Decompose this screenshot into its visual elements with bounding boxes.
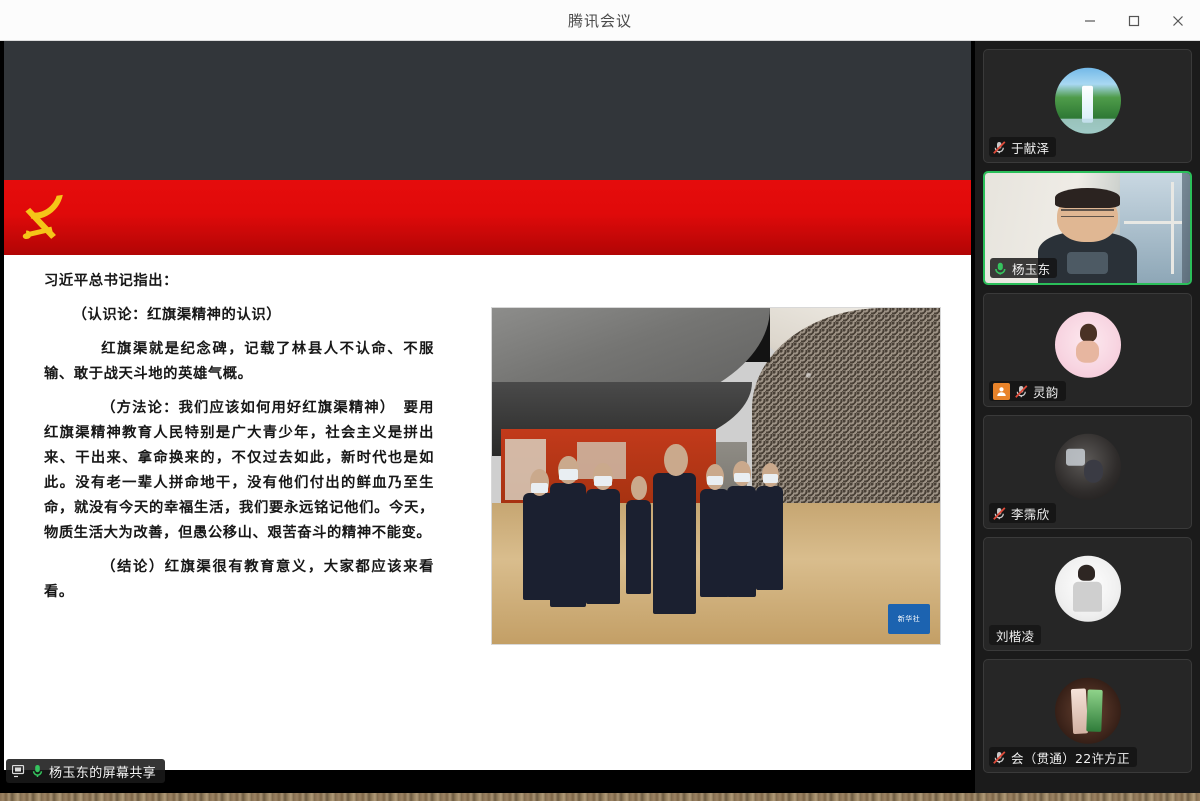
photo-scene: 新华社 bbox=[492, 308, 940, 644]
video-person-hair bbox=[1055, 188, 1121, 208]
close-icon bbox=[1172, 15, 1184, 27]
waterfall-avatar bbox=[1055, 68, 1121, 134]
phone-photo-avatar bbox=[1055, 678, 1121, 744]
window-title: 腾讯会议 bbox=[0, 10, 1200, 31]
participant-name: 杨玉东 bbox=[1012, 259, 1050, 278]
slide-paragraph-4: （结论）红旗渠很有教育意义，大家都应该来看看。 bbox=[44, 555, 434, 605]
photo-figure-mask bbox=[531, 483, 549, 493]
photo-figure-mask bbox=[559, 469, 578, 480]
slide-paragraph-1: （认识论：红旗渠精神的认识） bbox=[44, 303, 434, 328]
host-person-icon bbox=[993, 383, 1010, 400]
participant-nametag: 会（贯通）22许方正 bbox=[989, 747, 1137, 767]
participant-tile[interactable]: 于献泽 bbox=[983, 49, 1192, 163]
video-person-collar bbox=[1067, 252, 1108, 274]
participant-tile[interactable]: 灵韵 bbox=[983, 293, 1192, 407]
slide-paragraph-2: 红旗渠就是纪念碑，记载了林县人不认命、不服输、敢于战天斗地的英雄气概。 bbox=[44, 337, 434, 387]
video-window-frame bbox=[1171, 182, 1174, 274]
maximize-button[interactable] bbox=[1112, 0, 1156, 41]
participant-name: 于献泽 bbox=[1011, 138, 1049, 157]
participant-nametag: 于献泽 bbox=[989, 137, 1056, 157]
white-photo-avatar bbox=[1055, 556, 1121, 622]
screen-share-label: 杨玉东的屏幕共享 bbox=[6, 759, 165, 783]
participant-tile[interactable]: 李霈欣 bbox=[983, 415, 1192, 529]
mic-muted-icon bbox=[1015, 385, 1028, 398]
photo-figure bbox=[586, 489, 620, 603]
slide-photo: 新华社 bbox=[491, 307, 941, 645]
slide-text-block: 习近平总书记指出： （认识论：红旗渠精神的认识） 红旗渠就是纪念碑，记载了林县人… bbox=[44, 269, 434, 614]
dark-photo-avatar bbox=[1055, 434, 1121, 500]
photo-figure bbox=[550, 483, 586, 607]
photo-figure-mask bbox=[707, 476, 723, 485]
photo-main-figure bbox=[653, 473, 696, 614]
mic-muted-icon bbox=[993, 141, 1006, 154]
participant-tile[interactable]: 刘楷凌 bbox=[983, 537, 1192, 651]
photo-watermark: 新华社 bbox=[888, 604, 930, 634]
participant-nametag: 灵韵 bbox=[989, 381, 1066, 401]
participant-nametag: 刘楷凌 bbox=[989, 625, 1041, 645]
photo-figure-mask bbox=[734, 473, 750, 482]
screen-share-icon bbox=[12, 765, 26, 778]
participant-tile[interactable]: 会（贯通）22许方正 bbox=[983, 659, 1192, 773]
title-bar: 腾讯会议 bbox=[0, 0, 1200, 41]
mic-muted-icon bbox=[993, 507, 1006, 520]
video-window-frame-h bbox=[1124, 221, 1181, 224]
close-button[interactable] bbox=[1156, 0, 1200, 41]
maximize-icon bbox=[1128, 15, 1140, 27]
shared-slide-canvas[interactable]: 习近平总书记指出： （认识论：红旗渠精神的认识） 红旗渠就是纪念碑，记载了林县人… bbox=[4, 41, 971, 770]
photo-figure bbox=[727, 486, 756, 597]
shared-screen-region[interactable]: 习近平总书记指出： （认识论：红旗渠精神的认识） 红旗渠就是纪念碑，记载了林县人… bbox=[0, 41, 975, 793]
participant-panel[interactable]: 于献泽 bbox=[975, 41, 1200, 793]
photo-figure-head bbox=[631, 476, 647, 500]
pink-cartoon-avatar bbox=[1055, 312, 1121, 378]
photo-main-figure-head bbox=[664, 444, 687, 476]
slide-red-banner bbox=[4, 180, 971, 255]
presentation-slide: 习近平总书记指出： （认识论：红旗渠精神的认识） 红旗渠就是纪念碑，记载了林县人… bbox=[4, 41, 971, 770]
mic-on-icon bbox=[32, 764, 43, 778]
photo-figure bbox=[626, 500, 651, 594]
cpc-hammer-sickle-emblem-icon bbox=[14, 186, 76, 248]
participant-name: 刘楷凌 bbox=[996, 626, 1034, 645]
participant-name: 李霈欣 bbox=[1011, 504, 1049, 523]
video-person-glasses bbox=[1061, 209, 1114, 217]
slide-top-band bbox=[4, 41, 971, 180]
tencent-meeting-window: 腾讯会议 bbox=[0, 0, 1200, 793]
participant-tile-active-speaker[interactable]: 杨玉东 bbox=[983, 171, 1192, 285]
minimize-button[interactable] bbox=[1068, 0, 1112, 41]
photo-watermark-text: 新华社 bbox=[898, 614, 921, 624]
screen-share-label-text: 杨玉东的屏幕共享 bbox=[49, 762, 156, 781]
window-controls bbox=[1068, 0, 1200, 41]
meeting-body: 习近平总书记指出： （认识论：红旗渠精神的认识） 红旗渠就是纪念碑，记载了林县人… bbox=[0, 41, 1200, 793]
mic-muted-icon bbox=[993, 751, 1006, 764]
photo-figure-mask bbox=[594, 476, 612, 486]
slide-content-area: 习近平总书记指出： （认识论：红旗渠精神的认识） 红旗渠就是纪念碑，记载了林县人… bbox=[4, 255, 971, 770]
slide-paragraph-3: （方法论：我们应该如何用好红旗渠精神） 要用红旗渠精神教育人民特别是广大青少年，… bbox=[44, 396, 434, 546]
photo-figure bbox=[756, 486, 783, 590]
mic-on-icon bbox=[994, 262, 1007, 275]
participant-nametag: 李霈欣 bbox=[989, 503, 1056, 523]
minimize-icon bbox=[1084, 15, 1096, 27]
participant-name: 会（贯通）22许方正 bbox=[1011, 748, 1130, 767]
photo-figure bbox=[700, 489, 729, 597]
participant-name: 灵韵 bbox=[1033, 382, 1059, 401]
photo-figure-mask bbox=[763, 474, 778, 483]
slide-paragraph-0: 习近平总书记指出： bbox=[44, 269, 434, 294]
participant-nametag: 杨玉东 bbox=[990, 258, 1057, 278]
